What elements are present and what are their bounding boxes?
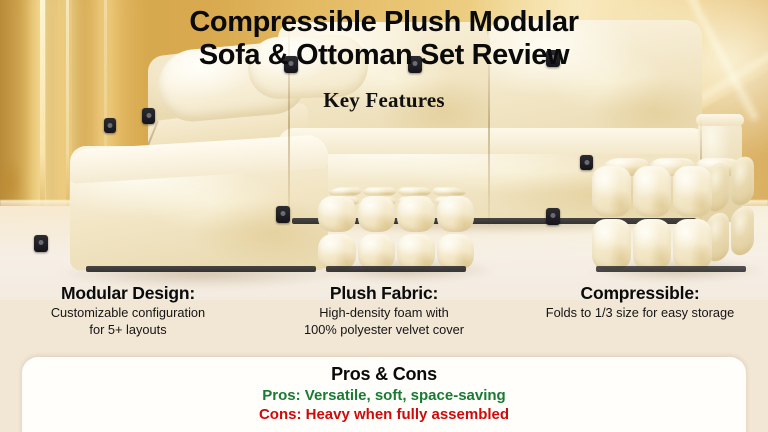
ottoman-center-base xyxy=(326,266,466,272)
connector-clip-5 xyxy=(546,208,560,225)
ottoman-center xyxy=(318,196,474,270)
connector-clip-4 xyxy=(276,206,290,223)
feature-heading: Modular Design: xyxy=(6,283,250,303)
ottoman-right-side xyxy=(706,154,754,264)
pros-cons-panel: Pros & Cons Pros: Versatile, soft, space… xyxy=(22,357,746,432)
cons-line: Cons: Heavy when fully assembled xyxy=(22,405,746,424)
key-features-row: Modular Design: Customizable configurati… xyxy=(0,283,768,349)
page-title-line-1: Compressible Plush Modular xyxy=(0,6,768,39)
infographic-root: Compressible Plush Modular Sofa & Ottoma… xyxy=(0,0,768,432)
chaise-base xyxy=(86,266,316,272)
feature-compressible: Compressible: Folds to 1/3 size for easy… xyxy=(512,283,768,349)
section-subtitle: Key Features xyxy=(0,88,768,113)
feature-heading: Plush Fabric: xyxy=(262,283,506,303)
feature-plush-fabric: Plush Fabric: High-density foam with 100… xyxy=(256,283,512,349)
feature-body: Folds to 1/3 size for easy storage xyxy=(518,305,762,321)
sofa-right-armrest-top xyxy=(696,114,744,126)
feature-body-line-2: for 5+ layouts xyxy=(89,322,166,337)
connector-clip-7 xyxy=(34,235,48,252)
pros-cons-title: Pros & Cons xyxy=(22,363,746,386)
feature-body-line-1: Customizable configuration xyxy=(51,305,205,320)
sofa-seat-long-top xyxy=(278,128,708,154)
feature-body-line-2: 100% polyester velvet cover xyxy=(304,322,464,337)
page-title: Compressible Plush Modular Sofa & Ottoma… xyxy=(0,6,768,72)
feature-modular-design: Modular Design: Customizable configurati… xyxy=(0,283,256,349)
connector-clip-8 xyxy=(104,118,116,133)
ottoman-right xyxy=(592,166,712,270)
feature-body-line-1: High-density foam with xyxy=(319,305,448,320)
feature-body: High-density foam with 100% polyester ve… xyxy=(262,305,506,338)
pros-line: Pros: Versatile, soft, space-saving xyxy=(22,386,746,405)
ottoman-right-base xyxy=(596,266,746,272)
page-title-line-2: Sofa & Ottoman Set Review xyxy=(0,39,768,72)
feature-heading: Compressible: xyxy=(518,283,762,303)
feature-body: Customizable configuration for 5+ layout… xyxy=(6,305,250,338)
feature-body-line-1: Folds to 1/3 size for easy storage xyxy=(546,305,735,320)
